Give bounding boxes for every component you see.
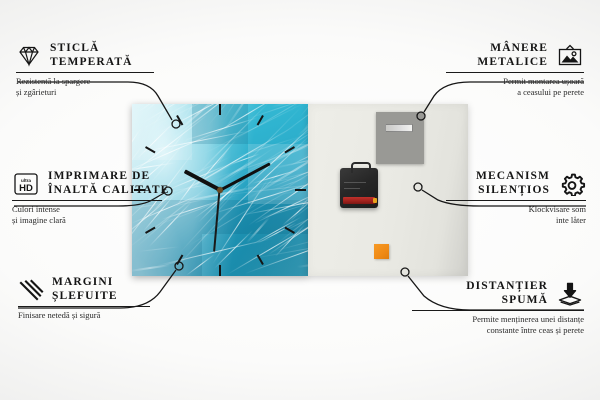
callout-title-line-2: TEMPERATĂ [50, 56, 133, 70]
feather-filament [297, 259, 308, 268]
arrow-onto-layers-icon [556, 282, 584, 306]
product-photo [132, 104, 468, 276]
callout-desc-line-1: Rezistentă la spargere [16, 76, 154, 87]
callout-desc-line-1: Finisare netedă și sigură [18, 310, 150, 321]
clock-tick-mark [219, 265, 221, 276]
callout-rule [16, 72, 154, 73]
clock-tick-mark [295, 189, 306, 191]
callout-metal-handles: MÂNERE METALICE Permit montarea ușoară a… [446, 42, 584, 97]
callout-polished-edges: MARGINI ȘLEFUITE Finisare netedă și sigu… [18, 276, 150, 321]
callout-title-line-1: STICLĂ [50, 42, 133, 56]
callout-title-line-1: MARGINI [52, 276, 118, 290]
quartz-mechanism-box [340, 168, 378, 208]
foam-spacer [374, 244, 389, 259]
callout-desc-line-2: inte låter [446, 215, 586, 226]
callout-rule [446, 72, 584, 73]
callout-desc-line-2: și imagine clară [12, 215, 162, 226]
callout-foam-spacer: DISTANȚIER SPUMĂ Permite menținerea unei… [412, 280, 584, 335]
callout-desc-line-2: și zgârieturi [16, 87, 154, 98]
diagonal-lines-icon [18, 279, 44, 301]
mechanism-detail-line [344, 182, 366, 183]
callout-silent-mechanism: MECANISM SILENȚIOS Klockvisare som inte … [446, 170, 586, 225]
hanging-frame-icon [556, 44, 584, 68]
callout-title-line-1: MÂNERE [446, 42, 548, 56]
callout-desc-line-1: Permit montarea ușoară [446, 76, 584, 87]
mechanism-detail-line [344, 188, 360, 189]
callout-desc-line-1: Klockvisare som [446, 204, 586, 215]
gear-icon [558, 172, 586, 196]
ultra-hd-icon-large-label: HD [19, 183, 33, 194]
hanger-slot [385, 124, 413, 132]
callout-title-line-1: IMPRIMARE DE [48, 170, 169, 184]
callout-desc-line-1: Culori intense [12, 204, 162, 215]
callout-rule [12, 200, 162, 201]
clock-back-panel [308, 104, 468, 276]
metal-hanger-plate [376, 112, 424, 164]
diamond-icon [16, 45, 42, 67]
callout-desc-line-2: a ceasului pe perete [446, 87, 584, 98]
infographic-canvas: STICLĂ TEMPERATĂ Rezistentă la spargere … [0, 0, 600, 400]
battery [343, 197, 375, 204]
clock-hand-cap [217, 187, 223, 193]
mechanism-hanger-loop [351, 162, 371, 173]
callout-title-line-1: MECANISM [446, 170, 550, 184]
callout-desc-line-1: Permite menținerea unei distanțe [412, 314, 584, 325]
callout-title-line-1: DISTANȚIER [412, 280, 548, 294]
callout-rule [412, 310, 584, 311]
callout-tempered-glass: STICLĂ TEMPERATĂ Rezistentă la spargere … [16, 42, 154, 97]
callout-title-line-2: ȘLEFUITE [52, 290, 118, 304]
callout-title-line-2: METALICE [446, 56, 548, 70]
callout-high-quality-print: ultra HD IMPRIMARE DE ÎNALTĂ CALITATE Cu… [12, 170, 162, 225]
callout-rule [446, 200, 586, 201]
callout-title-line-2: SILENȚIOS [446, 184, 550, 198]
callout-title-line-2: SPUMĂ [412, 294, 548, 308]
clock-tick-mark [219, 104, 221, 115]
callout-title-line-2: ÎNALTĂ CALITATE [48, 184, 169, 198]
callout-rule [18, 306, 150, 307]
callout-desc-line-2: constante între ceas și perete [412, 325, 584, 336]
ultra-hd-icon: ultra HD [12, 172, 40, 196]
